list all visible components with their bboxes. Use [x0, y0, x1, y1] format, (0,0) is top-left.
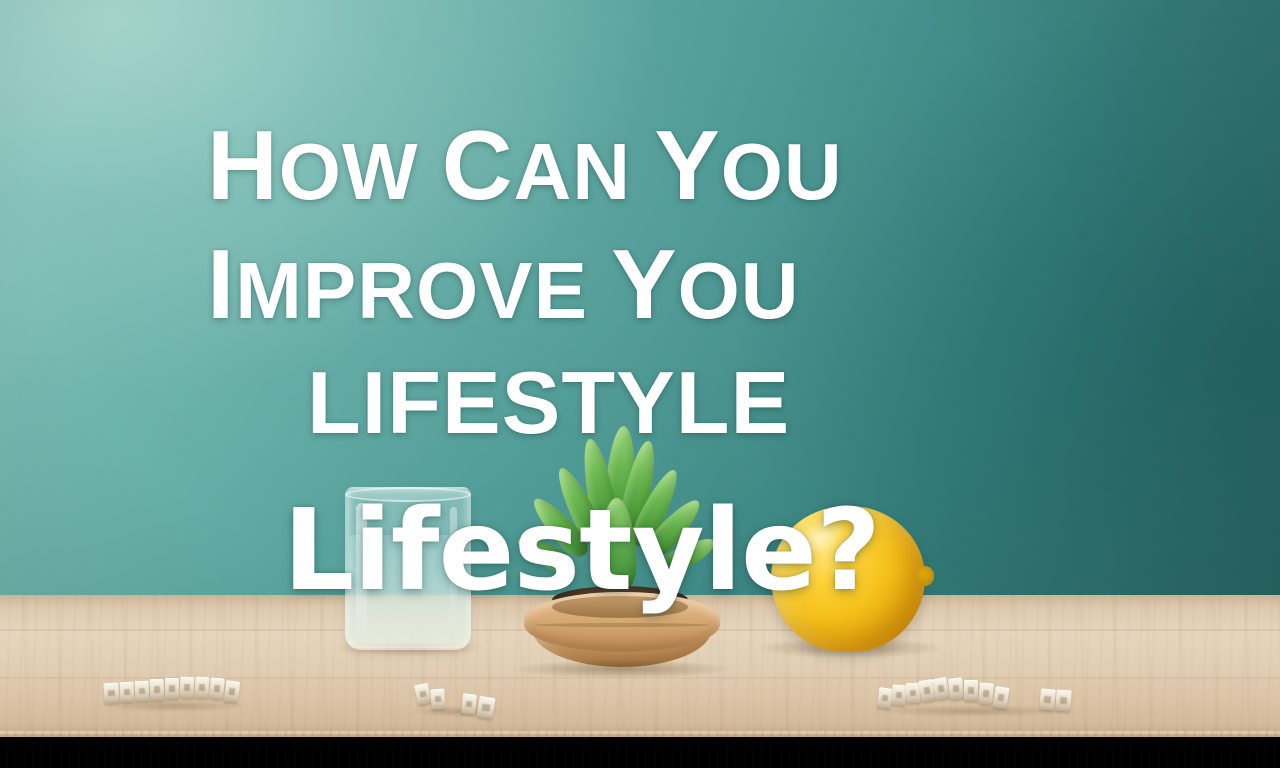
- lemon: [771, 506, 925, 652]
- table-edge: [0, 731, 1280, 768]
- pot-shadow: [516, 660, 728, 678]
- glass-rim: [345, 487, 471, 502]
- lemon-texture: [771, 506, 925, 652]
- table-edge-grain: [0, 731, 1280, 768]
- lemon-tip: [916, 566, 934, 586]
- glass-of-water: [345, 487, 471, 650]
- glass-highlight: [450, 507, 457, 627]
- pot-inner-rim: [552, 596, 688, 618]
- pot-rim-line: [534, 623, 710, 627]
- potted-plant: [510, 420, 730, 680]
- banner-image: HOW CAN YOU IMPROVE YOU LIFESTYLE Lifest…: [0, 0, 1280, 768]
- glass-highlight: [356, 503, 367, 633]
